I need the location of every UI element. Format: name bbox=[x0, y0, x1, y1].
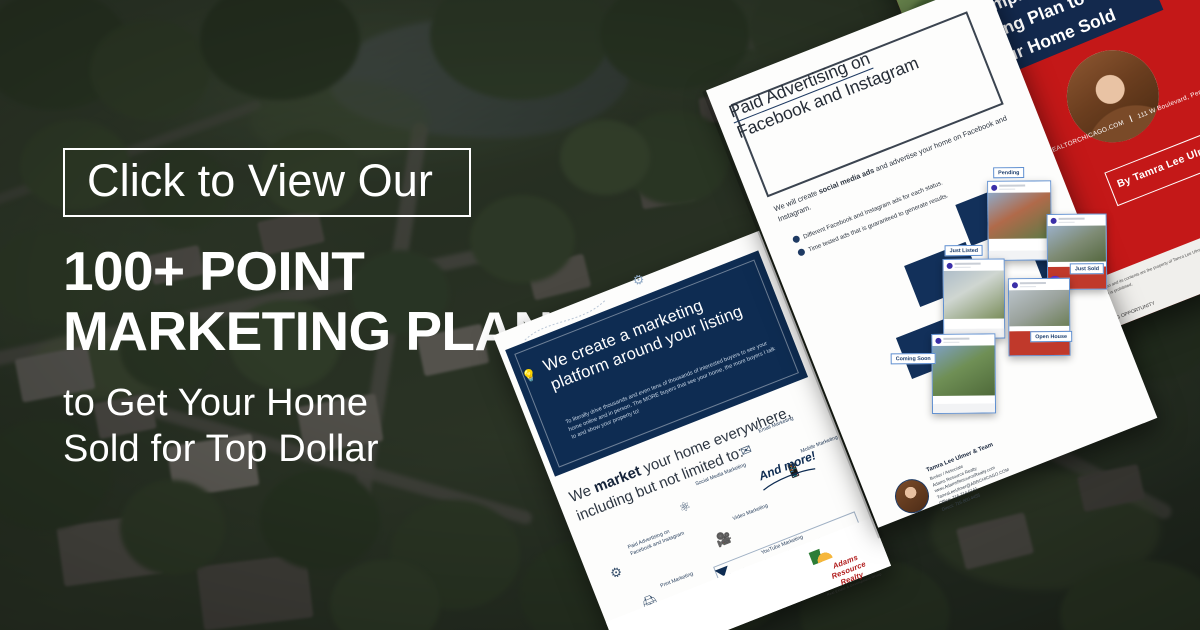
subline-line-1: to Get Your Home bbox=[63, 380, 583, 426]
listing-badge: Just Sold bbox=[1070, 263, 1104, 274]
eyebrow-text: Click to View Our bbox=[87, 157, 447, 204]
channel-label: Paid Advertising on Facebook and Instagr… bbox=[627, 524, 686, 558]
network-icon: ⚙ bbox=[608, 563, 625, 582]
agent-headshot bbox=[890, 474, 934, 518]
listing-card[interactable] bbox=[943, 258, 1006, 339]
feature-callout-title: We create a marketing platform around yo… bbox=[540, 276, 761, 395]
click-to-view-cta[interactable]: Click to View Our bbox=[63, 148, 471, 217]
listing-card[interactable] bbox=[931, 333, 996, 414]
subline-line-2: Sold for Top Dollar bbox=[63, 426, 583, 472]
listing-card[interactable] bbox=[1008, 278, 1071, 357]
page-subtitle: to Get Your Home Sold for Top Dollar bbox=[63, 380, 583, 473]
listing-badge: Coming Soon bbox=[891, 353, 936, 364]
video-icon: 🎥 bbox=[713, 529, 734, 550]
bullet-dot-icon bbox=[792, 235, 801, 244]
listing-card[interactable] bbox=[987, 180, 1052, 261]
social-icon: ⚛ bbox=[677, 498, 694, 517]
listing-badge: Open House bbox=[1030, 331, 1072, 342]
bullet-dot-icon bbox=[797, 248, 806, 257]
listing-badge: Pending bbox=[993, 167, 1024, 178]
marketing-banner: Click to View Our 100+ POINT MARKETING P… bbox=[0, 0, 1200, 630]
brand-logo: Adams Resource Realty Real Estate & Deve… bbox=[810, 534, 879, 585]
channel-label: Video Marketing bbox=[732, 495, 788, 523]
listing-badge: Just Listed bbox=[945, 245, 984, 256]
